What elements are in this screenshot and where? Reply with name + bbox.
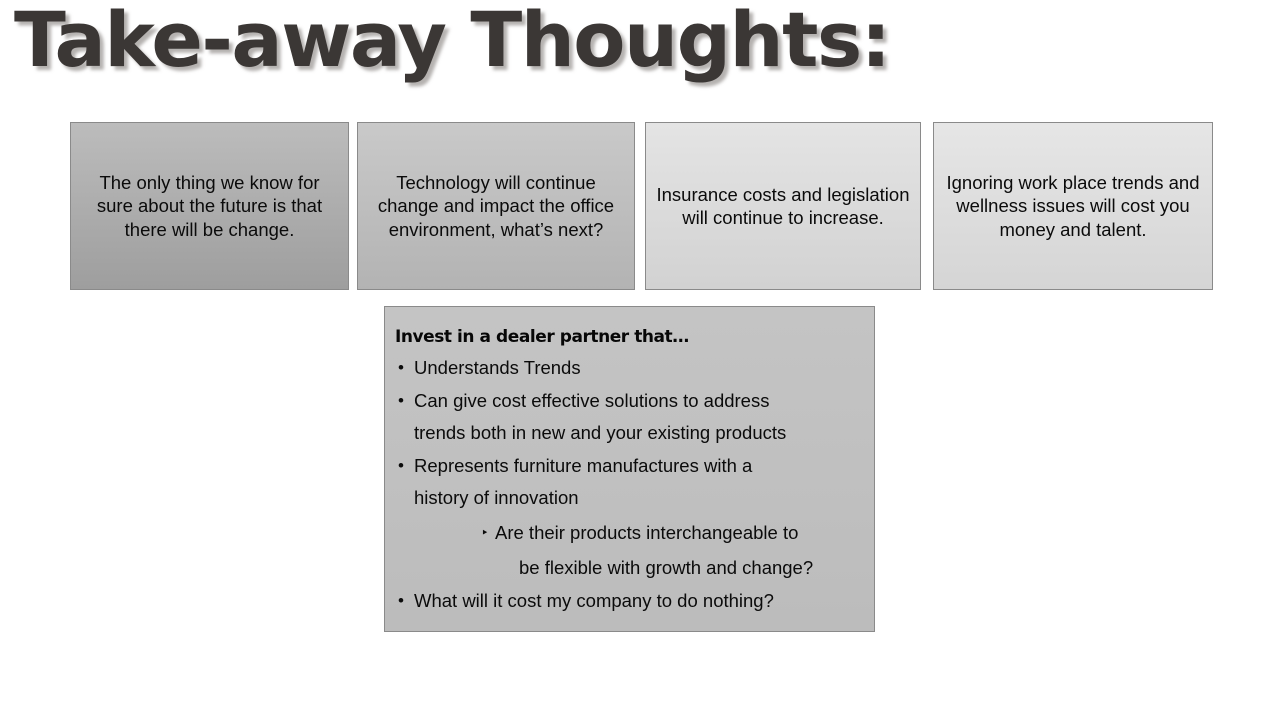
sub-list-item-line: Are their products interchangeable to <box>495 515 866 550</box>
list-item-line: history of innovation <box>414 482 866 515</box>
thought-box-future-change: The only thing we know for sure about th… <box>70 122 349 290</box>
bullet-marker-icon: • <box>398 352 414 385</box>
list-item-line: Represents furniture manufactures with a <box>414 450 866 483</box>
sub-list-item-text: Are their products interchangeable to be… <box>495 515 866 585</box>
list-item-line: trends both in new and your existing pro… <box>414 417 866 450</box>
thought-box-text: Insurance costs and legislation will con… <box>654 183 912 230</box>
list-item-text: Understands Trends <box>414 352 866 385</box>
list-item: • What will it cost my company to do not… <box>398 585 866 618</box>
dealer-partner-box: Invest in a dealer partner that… • Under… <box>384 306 875 632</box>
thought-box-workplace-trends: Ignoring work place trends and wellness … <box>933 122 1213 290</box>
thought-box-technology: Technology will continue change and impa… <box>357 122 635 290</box>
sub-bullet-marker-icon: ‣ <box>481 515 495 550</box>
list-item-text: Can give cost effective solutions to add… <box>414 385 866 450</box>
thought-box-insurance: Insurance costs and legislation will con… <box>645 122 921 290</box>
thought-box-text: Ignoring work place trends and wellness … <box>942 171 1204 242</box>
bullet-marker-icon: • <box>398 585 414 618</box>
list-item-text: What will it cost my company to do nothi… <box>414 585 866 618</box>
thought-box-text: The only thing we know for sure about th… <box>79 171 340 242</box>
list-item-line: Can give cost effective solutions to add… <box>414 385 866 418</box>
list-item: • Understands Trends <box>398 352 866 385</box>
sub-list-item-line: be flexible with growth and change? <box>519 550 866 585</box>
list-item-line: Understands Trends <box>414 352 866 385</box>
sub-list-item: ‣ Are their products interchangeable to … <box>481 515 866 585</box>
list-item: • Can give cost effective solutions to a… <box>398 385 866 450</box>
page-title: Take-away Thoughts: <box>14 0 890 86</box>
thought-box-text: Technology will continue change and impa… <box>366 171 626 242</box>
dealer-partner-heading: Invest in a dealer partner that… <box>395 326 866 348</box>
bullet-marker-icon: • <box>398 450 414 483</box>
thought-box-row: The only thing we know for sure about th… <box>0 122 1280 292</box>
list-item-text: Represents furniture manufactures with a… <box>414 450 866 515</box>
bullet-marker-icon: • <box>398 385 414 418</box>
list-item: • Represents furniture manufactures with… <box>398 450 866 515</box>
list-item-line: What will it cost my company to do nothi… <box>414 585 866 618</box>
